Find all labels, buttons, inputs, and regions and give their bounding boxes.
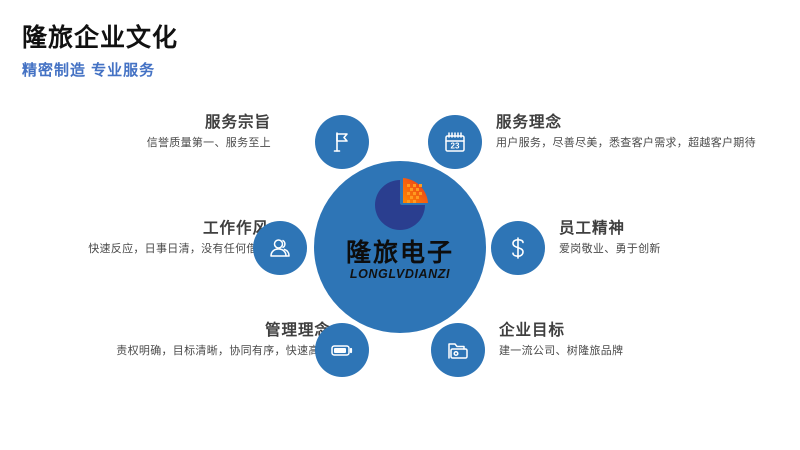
- item-desc-employee-spirit: 爱岗敬业、勇于创新: [559, 241, 799, 258]
- item-desc-management-concept: 责权明确，目标清晰，协同有序，快速高效: [11, 343, 331, 360]
- flag-icon: [329, 129, 355, 155]
- dollar-icon: [505, 235, 531, 261]
- item-desc-service-concept: 用户服务，尽善尽美，悉查客户需求，超越客户期待: [496, 135, 756, 152]
- icon-bubble-work-style[interactable]: [253, 221, 307, 275]
- item-desc-work-style: 快速反应，日事日清，没有任何借口: [0, 241, 269, 258]
- item-desc-service-purpose: 信誉质量第一、服务至上: [11, 135, 271, 152]
- item-text-service-concept: 服务理念 用户服务，尽善尽美，悉查客户需求，超越客户期待: [496, 113, 756, 152]
- center-logo-hub[interactable]: 隆旅电子 LONGLVDIANZI: [314, 161, 486, 333]
- icon-bubble-service-purpose[interactable]: [315, 115, 369, 169]
- item-text-employee-spirit: 员工精神 爱岗敬业、勇于创新: [559, 219, 799, 258]
- calendar-icon-day: 23: [451, 142, 460, 151]
- battery-icon: [329, 337, 355, 363]
- icon-bubble-management-concept[interactable]: [315, 323, 369, 377]
- item-title-enterprise-goal: 企业目标: [499, 321, 779, 340]
- brand-name-cn: 隆旅电子: [346, 240, 454, 266]
- calendar-icon: 23: [442, 129, 468, 155]
- item-title-work-style: 工作作风: [0, 219, 269, 238]
- item-text-management-concept: 管理理念 责权明确，目标清晰，协同有序，快速高效: [11, 321, 331, 360]
- item-text-work-style: 工作作风 快速反应，日事日清，没有任何借口: [0, 219, 269, 258]
- item-text-enterprise-goal: 企业目标 建一流公司、树隆旅品牌: [499, 321, 779, 360]
- page-title: 隆旅企业文化: [22, 18, 178, 54]
- pacman-circle-logo: [362, 174, 438, 236]
- item-title-service-concept: 服务理念: [496, 113, 756, 132]
- person-icon: [267, 235, 293, 261]
- slide-canvas: 隆旅企业文化 精密制造 专业服务 服务宗旨 信誉质量第一、服务至上 工作作风 快…: [0, 0, 800, 450]
- page-subtitle: 精密制造 专业服务: [22, 59, 155, 80]
- icon-bubble-service-concept[interactable]: 23: [428, 115, 482, 169]
- item-title-employee-spirit: 员工精神: [559, 219, 799, 238]
- icon-bubble-employee-spirit[interactable]: [491, 221, 545, 275]
- item-desc-enterprise-goal: 建一流公司、树隆旅品牌: [499, 343, 779, 360]
- item-text-service-purpose: 服务宗旨 信誉质量第一、服务至上: [11, 113, 271, 152]
- item-title-management-concept: 管理理念: [11, 321, 331, 340]
- item-title-service-purpose: 服务宗旨: [11, 113, 271, 132]
- folder-icon: [445, 337, 471, 363]
- icon-bubble-enterprise-goal[interactable]: [431, 323, 485, 377]
- brand-name-en: LONGLVDIANZI: [350, 267, 450, 281]
